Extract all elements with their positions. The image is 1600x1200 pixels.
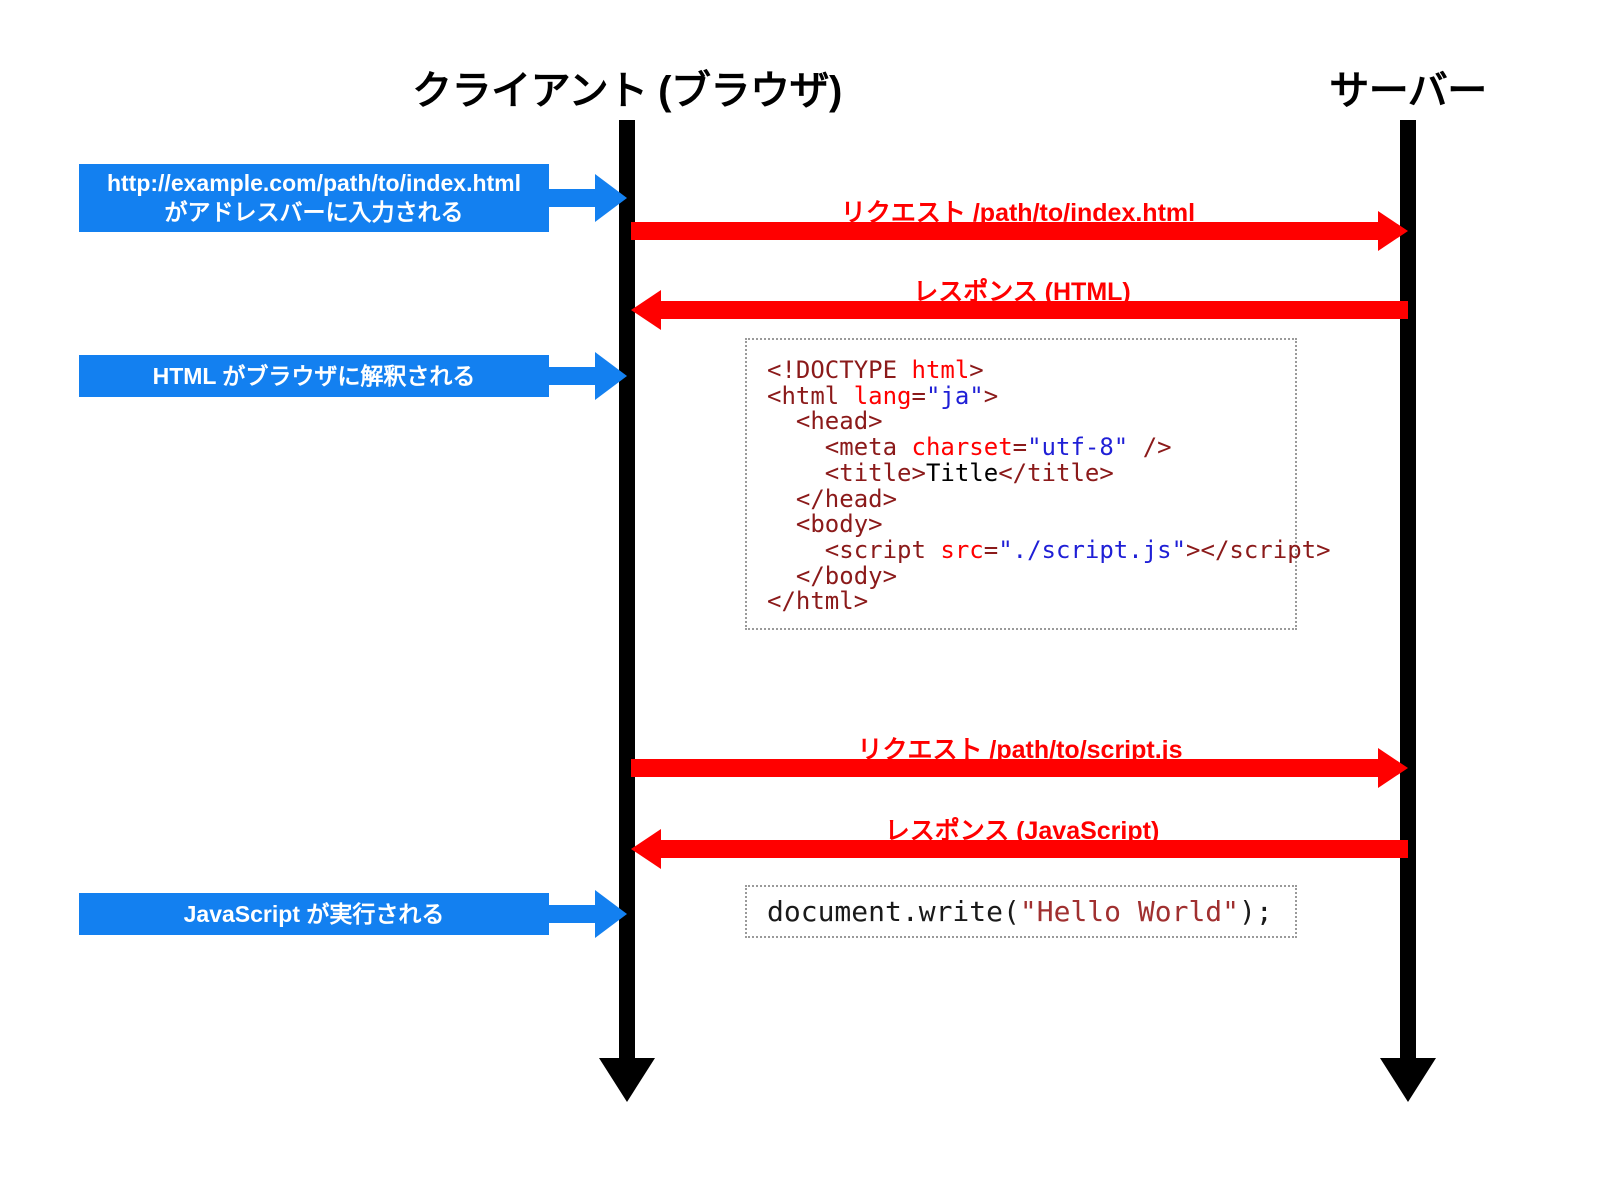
sequence-diagram-canvas: クライアント (ブラウザ) サーバー http://example.com/pa… [0,0,1600,1200]
arrow-shaft [549,367,595,385]
javascript-source-code-block: document.write("Hello World"); [745,885,1297,938]
server-lifeline-title: サーバー [1329,58,1487,116]
server-lifeline [1400,120,1416,1060]
client-lifeline-title: クライアント (ブラウザ) [412,58,842,116]
note-javascript-executed-line-1: JavaScript が実行される [184,900,445,929]
arrow-head [595,890,627,938]
arrow-shaft [631,759,1378,777]
arrow-head [631,829,661,869]
note-url-line-2: がアドレスバーに入力される [165,198,464,227]
arrow-head [595,174,627,222]
note-javascript-executed: JavaScript が実行される [79,893,549,935]
arrow-head [595,352,627,400]
arrow-shaft [549,189,595,207]
arrow-shaft [661,840,1408,858]
arrow-shaft [549,905,595,923]
arrow-head [1378,211,1408,251]
note-html-parsed-line-1: HTML がブラウザに解釈される [153,362,476,391]
arrow-head [631,290,661,330]
arrow-shaft [661,301,1408,319]
note-html-parsed: HTML がブラウザに解釈される [79,355,549,397]
note-url-entered: http://example.com/path/to/index.html がア… [79,164,549,232]
html-source-code-block: <!DOCTYPE html> <html lang="ja"> <head> … [745,338,1297,630]
arrow-shaft [631,222,1378,240]
note-url-line-1: http://example.com/path/to/index.html [107,169,521,198]
server-lifeline-arrowhead-icon [1380,1058,1436,1102]
arrow-head [1378,748,1408,788]
client-lifeline-arrowhead-icon [599,1058,655,1102]
